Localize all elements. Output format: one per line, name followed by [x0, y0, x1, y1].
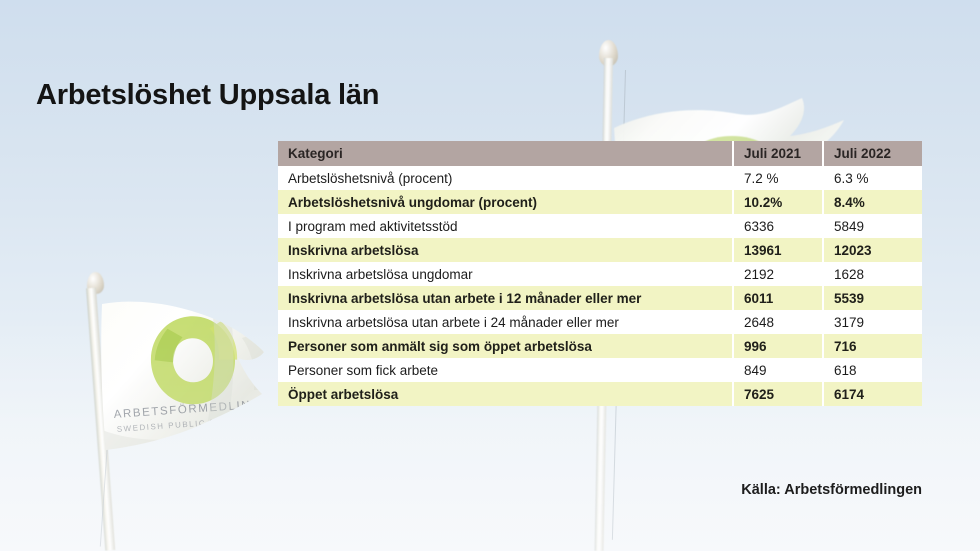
- table-row: Inskrivna arbetslösa utan arbete i 12 må…: [278, 286, 922, 310]
- cell-category: Arbetslöshetsnivå ungdomar (procent): [278, 190, 733, 214]
- cell-value-2021: 7625: [733, 382, 823, 406]
- cell-category: Inskrivna arbetslösa utan arbete i 24 må…: [278, 310, 733, 334]
- source-credit: Källa: Arbetsförmedlingen: [741, 482, 922, 498]
- table-body: Arbetslöshetsnivå (procent) 7.2 % 6.3 % …: [278, 166, 922, 406]
- column-header-juli-2021: Juli 2021: [733, 141, 823, 166]
- table-row: Inskrivna arbetslösa 13961 12023: [278, 238, 922, 262]
- cell-value-2021: 13961: [733, 238, 823, 262]
- table-row: Arbetslöshetsnivå ungdomar (procent) 10.…: [278, 190, 922, 214]
- cell-value-2021: 6011: [733, 286, 823, 310]
- table-row: Personer som fick arbete 849 618: [278, 358, 922, 382]
- cell-category: Inskrivna arbetslösa: [278, 238, 733, 262]
- table-row: Personer som anmält sig som öppet arbets…: [278, 334, 922, 358]
- cell-category: Öppet arbetslösa: [278, 382, 733, 406]
- cell-category: Personer som anmält sig som öppet arbets…: [278, 334, 733, 358]
- cell-value-2022: 12023: [823, 238, 922, 262]
- table-row: Arbetslöshetsnivå (procent) 7.2 % 6.3 %: [278, 166, 922, 190]
- table-row: Öppet arbetslösa 7625 6174: [278, 382, 922, 406]
- cell-value-2021: 2648: [733, 310, 823, 334]
- table-row: Inskrivna arbetslösa utan arbete i 24 må…: [278, 310, 922, 334]
- table-header: Kategori Juli 2021 Juli 2022: [278, 141, 922, 166]
- cell-category: I program med aktivitetsstöd: [278, 214, 733, 238]
- table-row: Inskrivna arbetslösa ungdomar 2192 1628: [278, 262, 922, 286]
- cell-category: Arbetslöshetsnivå (procent): [278, 166, 733, 190]
- page-title: Arbetslöshet Uppsala län: [36, 79, 379, 112]
- cell-value-2022: 1628: [823, 262, 922, 286]
- cell-value-2022: 716: [823, 334, 922, 358]
- cell-value-2021: 6336: [733, 214, 823, 238]
- table-row: I program med aktivitetsstöd 6336 5849: [278, 214, 922, 238]
- cell-value-2022: 5849: [823, 214, 922, 238]
- table-header-row: Kategori Juli 2021 Juli 2022: [278, 141, 922, 166]
- cell-value-2022: 6174: [823, 382, 922, 406]
- cell-value-2022: 3179: [823, 310, 922, 334]
- cell-value-2021: 10.2%: [733, 190, 823, 214]
- cell-value-2022: 8.4%: [823, 190, 922, 214]
- column-header-kategori: Kategori: [278, 141, 733, 166]
- slide-canvas: ARBETSFÖRMEDLINGEN SWEDISH PUBLIC EMPLOY…: [0, 0, 980, 551]
- column-header-juli-2022: Juli 2022: [823, 141, 922, 166]
- cell-value-2021: 7.2 %: [733, 166, 823, 190]
- cell-value-2021: 2192: [733, 262, 823, 286]
- statistics-table: Kategori Juli 2021 Juli 2022 Arbetslöshe…: [278, 141, 922, 406]
- cell-value-2021: 996: [733, 334, 823, 358]
- cell-category: Inskrivna arbetslösa ungdomar: [278, 262, 733, 286]
- cell-category: Inskrivna arbetslösa utan arbete i 12 må…: [278, 286, 733, 310]
- cell-value-2022: 618: [823, 358, 922, 382]
- cell-value-2022: 5539: [823, 286, 922, 310]
- cell-value-2022: 6.3 %: [823, 166, 922, 190]
- cell-category: Personer som fick arbete: [278, 358, 733, 382]
- statistics-table-container: Kategori Juli 2021 Juli 2022 Arbetslöshe…: [278, 141, 922, 406]
- cell-value-2021: 849: [733, 358, 823, 382]
- flag-left: ARBETSFÖRMEDLINGEN SWEDISH PUBLIC EMPLOY…: [92, 298, 297, 468]
